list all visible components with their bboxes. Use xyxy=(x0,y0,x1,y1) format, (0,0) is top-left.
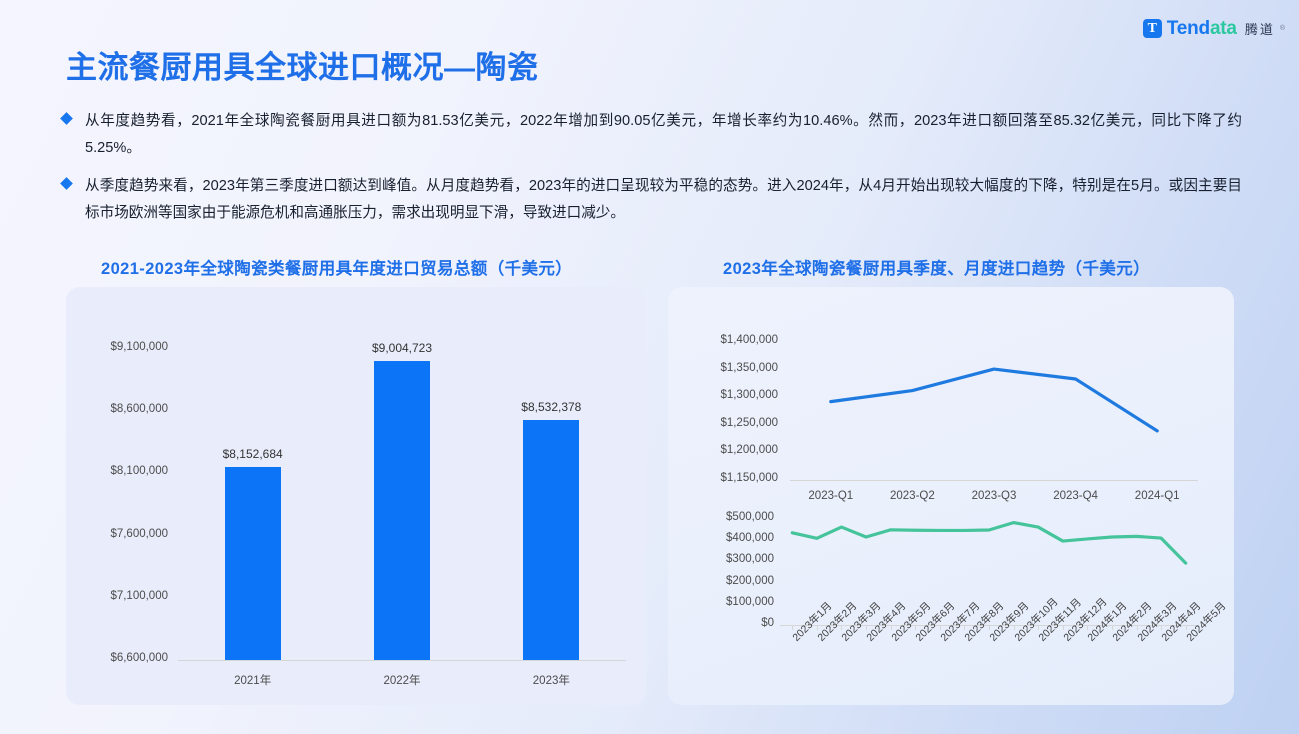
x-axis-tick-label: 2022年 xyxy=(352,672,452,688)
logo-chinese-name: 腾道 xyxy=(1245,19,1275,38)
brand-logo: T Tendata 腾道 ® xyxy=(1143,19,1285,38)
logo-word-part2: ata xyxy=(1210,18,1237,39)
annual-bar-chart: $9,100,000$8,600,000$8,100,000$7,600,000… xyxy=(66,287,646,705)
logo-word-part1: Tend xyxy=(1167,18,1210,39)
logo-badge-icon: T xyxy=(1143,19,1162,38)
bullet-text: 从季度趋势来看，2023年第三季度进口额达到峰值。从月度趋势看，2023年的进口… xyxy=(85,173,1242,227)
y-axis-tick-label: $8,100,000 xyxy=(72,465,168,477)
x-axis-tick-label: 2023年 xyxy=(501,672,601,688)
right-chart-heading: 2023年全球陶瓷餐厨用具季度、月度进口趋势（千美元） xyxy=(723,255,1150,279)
monthly-line-path xyxy=(668,287,1234,705)
page-title: 主流餐厨用具全球进口概况—陶瓷 xyxy=(66,42,539,87)
bullet-item: 从年度趋势看，2021年全球陶瓷餐厨用具进口额为81.53亿美元，2022年增加… xyxy=(62,108,1242,162)
bar-value-label: $8,532,378 xyxy=(481,400,621,414)
bar-value-label: $8,152,684 xyxy=(183,447,323,461)
monthly-line-chart: $500,000$400,000$300,000$200,000$100,000… xyxy=(668,287,1234,705)
y-axis-tick-label: $7,600,000 xyxy=(72,528,168,540)
annual-bar-chart-card: $9,100,000$8,600,000$8,100,000$7,600,000… xyxy=(66,287,646,705)
bullet-item: 从季度趋势来看，2023年第三季度进口额达到峰值。从月度趋势看，2023年的进口… xyxy=(62,173,1242,227)
summary-bullets: 从年度趋势看，2021年全球陶瓷餐厨用具进口额为81.53亿美元，2022年增加… xyxy=(62,108,1242,238)
logo-wordmark: Tendata xyxy=(1167,19,1237,38)
y-axis-tick-label: $8,600,000 xyxy=(72,403,168,415)
y-axis-tick-label: $9,100,000 xyxy=(72,341,168,353)
x-axis-tick-label: 2021年 xyxy=(203,672,303,688)
bar xyxy=(523,420,579,660)
logo-trademark: ® xyxy=(1280,25,1285,32)
diamond-bullet-icon xyxy=(60,177,73,190)
bar-value-label: $9,004,723 xyxy=(332,341,472,355)
logo-badge-letter: T xyxy=(1148,22,1157,36)
trend-line-chart-card: $1,400,000$1,350,000$1,300,000$1,250,000… xyxy=(668,287,1234,705)
left-chart-heading: 2021-2023年全球陶瓷类餐厨用具年度进口贸易总额（千美元） xyxy=(101,255,572,279)
y-axis-tick-label: $6,600,000 xyxy=(72,652,168,664)
y-axis-tick-label: $7,100,000 xyxy=(72,590,168,602)
bar xyxy=(225,467,281,660)
bullet-text: 从年度趋势看，2021年全球陶瓷餐厨用具进口额为81.53亿美元，2022年增加… xyxy=(85,108,1242,162)
bar xyxy=(374,361,430,660)
diamond-bullet-icon xyxy=(60,112,73,125)
x-axis-line xyxy=(178,660,626,661)
